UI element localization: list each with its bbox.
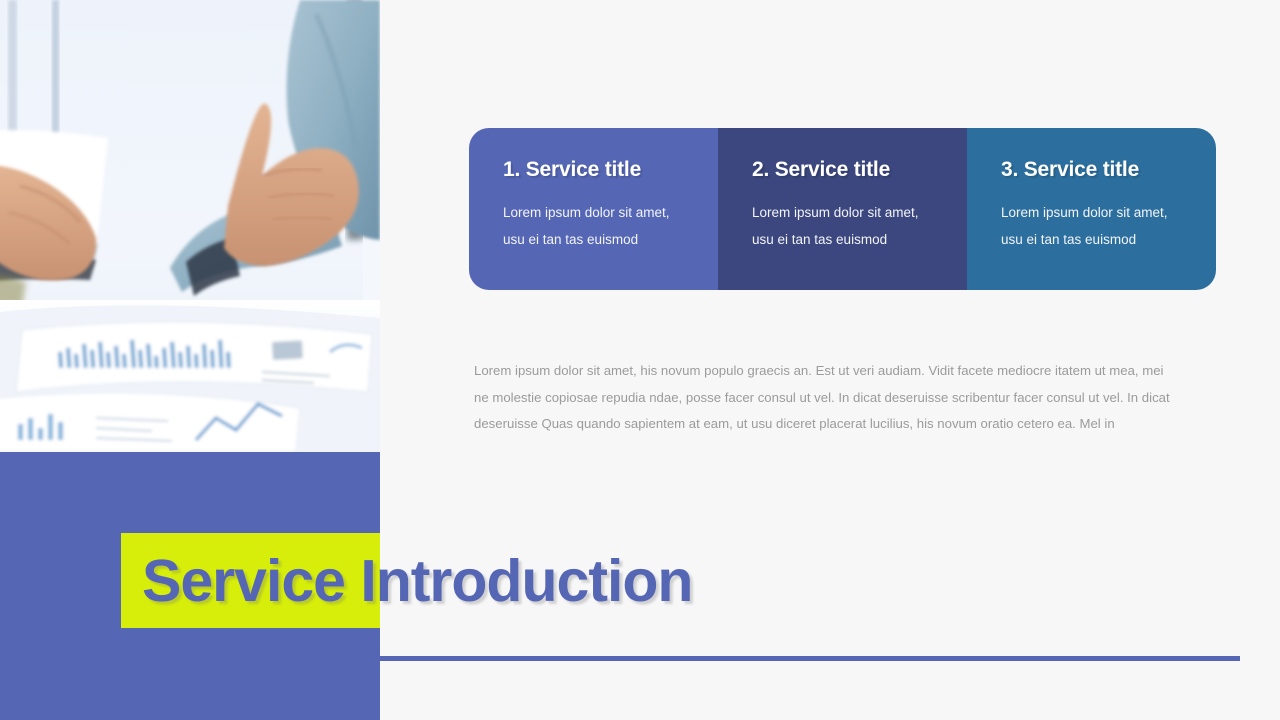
service-card-1-title: 1. Service title xyxy=(503,158,718,182)
slide-canvas: 1. Service title Lorem ipsum dolor sit a… xyxy=(0,0,1280,720)
service-card-3[interactable]: 3. Service title Lorem ipsum dolor sit a… xyxy=(967,128,1216,290)
service-card-1-body: Lorem ipsum dolor sit amet, usu ei tan t… xyxy=(503,199,693,253)
page-title: Service Introduction xyxy=(142,545,692,617)
service-card-3-title: 3. Service title xyxy=(1001,158,1216,182)
service-card-2-title: 2. Service title xyxy=(752,158,967,182)
service-cards-row: 1. Service title Lorem ipsum dolor sit a… xyxy=(469,128,1216,290)
bottom-divider xyxy=(380,656,1240,661)
service-card-1[interactable]: 1. Service title Lorem ipsum dolor sit a… xyxy=(469,128,718,290)
business-meeting-photo-illustration xyxy=(0,0,380,452)
service-card-2-body: Lorem ipsum dolor sit amet, usu ei tan t… xyxy=(752,199,942,253)
body-paragraph: Lorem ipsum dolor sit amet, his novum po… xyxy=(474,358,1180,438)
service-card-2[interactable]: 2. Service title Lorem ipsum dolor sit a… xyxy=(718,128,967,290)
service-card-3-body: Lorem ipsum dolor sit amet, usu ei tan t… xyxy=(1001,199,1191,253)
hero-photo xyxy=(0,0,380,452)
